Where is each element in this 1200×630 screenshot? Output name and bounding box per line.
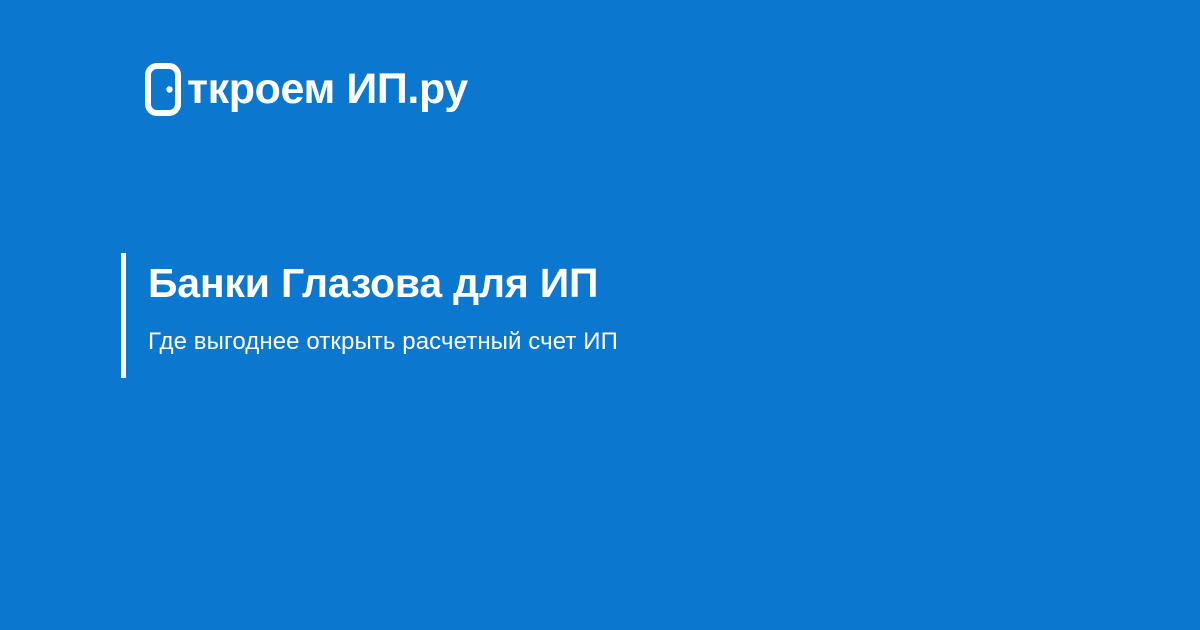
accent-bar bbox=[121, 253, 126, 378]
site-logo-text: ткроем ИП.ру bbox=[187, 63, 468, 116]
page-title: Банки Глазова для ИП bbox=[148, 259, 618, 307]
page-subtitle: Где выгоднее открыть расчетный счет ИП bbox=[148, 327, 618, 357]
hero-text-group: Банки Глазова для ИП Где выгоднее открыт… bbox=[148, 253, 618, 357]
og-card: ткроем ИП.ру Банки Глазова для ИП Где вы… bbox=[0, 0, 1200, 630]
site-logo[interactable]: ткроем ИП.ру bbox=[145, 58, 468, 120]
door-icon bbox=[145, 63, 181, 116]
hero-block: Банки Глазова для ИП Где выгоднее открыт… bbox=[121, 253, 618, 378]
